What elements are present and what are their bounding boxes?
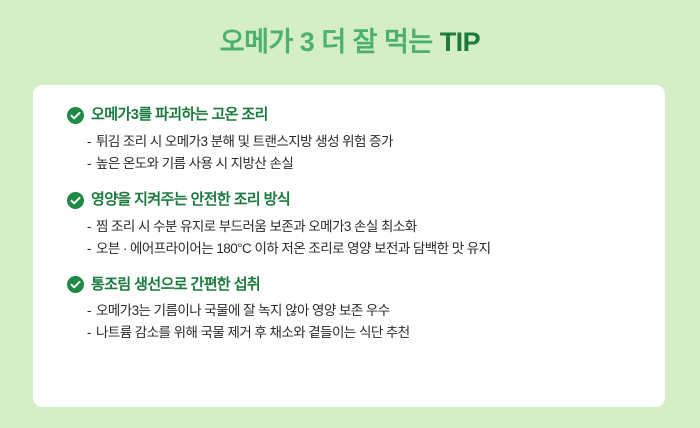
- bullet-dash: -: [87, 322, 91, 344]
- bullet-text: 오메가3는 기름이나 국물에 잘 녹지 않아 영양 보존 우수: [96, 300, 390, 322]
- list-item: - 오메가3는 기름이나 국물에 잘 녹지 않아 영양 보존 우수: [87, 300, 639, 322]
- page-title-accent: TIP: [440, 27, 481, 57]
- title-bar: 오메가 3 더 잘 먹는 TIP: [0, 0, 700, 85]
- bullet-dash: -: [87, 238, 91, 260]
- list-item: - 높은 온도와 기름 사용 시 지방산 손실: [87, 153, 639, 175]
- bullet-dash: -: [87, 153, 91, 175]
- list-item: - 찜 조리 시 수분 유지로 부드러움 보존과 오메가3 손실 최소화: [87, 216, 639, 238]
- check-circle-icon: [67, 192, 84, 209]
- bullet-text: 튀김 조리 시 오메가3 분해 및 트랜스지방 생성 위험 증가: [96, 131, 393, 153]
- page-title: 오메가 3 더 잘 먹는 TIP: [220, 29, 480, 56]
- bullet-dash: -: [87, 131, 91, 153]
- tip-section-1-heading: 오메가3를 파괴하는 고온 조리: [91, 107, 268, 124]
- bullet-text: 오븐 · 에어프라이어는 180°C 이하 저온 조리로 영양 보전과 담백한 …: [96, 238, 491, 260]
- check-circle-icon: [67, 276, 84, 293]
- list-item: - 튀김 조리 시 오메가3 분해 및 트랜스지방 생성 위험 증가: [87, 131, 639, 153]
- check-circle-icon: [67, 107, 84, 124]
- bullet-text: 높은 온도와 기름 사용 시 지방산 손실: [96, 153, 293, 175]
- bullet-text: 나트륨 감소를 위해 국물 제거 후 채소와 곁들이는 식단 추천: [96, 322, 410, 344]
- tip-section-1-header: 오메가3를 파괴하는 고온 조리: [67, 107, 639, 124]
- bullet-dash: -: [87, 216, 91, 238]
- tip-section-2: 영양을 지켜주는 안전한 조리 방식 - 찜 조리 시 수분 유지로 부드러움 …: [67, 192, 639, 260]
- tips-card-body: 오메가3를 파괴하는 고온 조리 - 튀김 조리 시 오메가3 분해 및 트랜스…: [33, 85, 665, 344]
- tip-section-1-bullets: - 튀김 조리 시 오메가3 분해 및 트랜스지방 생성 위험 증가 - 높은 …: [67, 131, 639, 175]
- tip-section-2-header: 영양을 지켜주는 안전한 조리 방식: [67, 192, 639, 209]
- tip-section-3-heading: 통조림 생선으로 간편한 섭취: [91, 277, 260, 294]
- tip-section-3-bullets: - 오메가3는 기름이나 국물에 잘 녹지 않아 영양 보존 우수 - 나트륨 …: [67, 300, 639, 344]
- tip-section-2-bullets: - 찜 조리 시 수분 유지로 부드러움 보존과 오메가3 손실 최소화 - 오…: [67, 216, 639, 260]
- tip-section-3-header: 통조림 생선으로 간편한 섭취: [67, 276, 639, 293]
- bullet-text: 찜 조리 시 수분 유지로 부드러움 보존과 오메가3 손실 최소화: [96, 216, 417, 238]
- bullet-dash: -: [87, 300, 91, 322]
- tip-section-1: 오메가3를 파괴하는 고온 조리 - 튀김 조리 시 오메가3 분해 및 트랜스…: [67, 107, 639, 175]
- list-item: - 오븐 · 에어프라이어는 180°C 이하 저온 조리로 영양 보전과 담백…: [87, 238, 639, 260]
- page-title-main: 오메가 3 더 잘 먹는: [220, 27, 440, 57]
- tip-section-3: 통조림 생선으로 간편한 섭취 - 오메가3는 기름이나 국물에 잘 녹지 않아…: [67, 276, 639, 344]
- tips-card: 오메가3를 파괴하는 고온 조리 - 튀김 조리 시 오메가3 분해 및 트랜스…: [33, 85, 665, 407]
- list-item: - 나트륨 감소를 위해 국물 제거 후 채소와 곁들이는 식단 추천: [87, 322, 639, 344]
- tip-section-2-heading: 영양을 지켜주는 안전한 조리 방식: [91, 192, 290, 209]
